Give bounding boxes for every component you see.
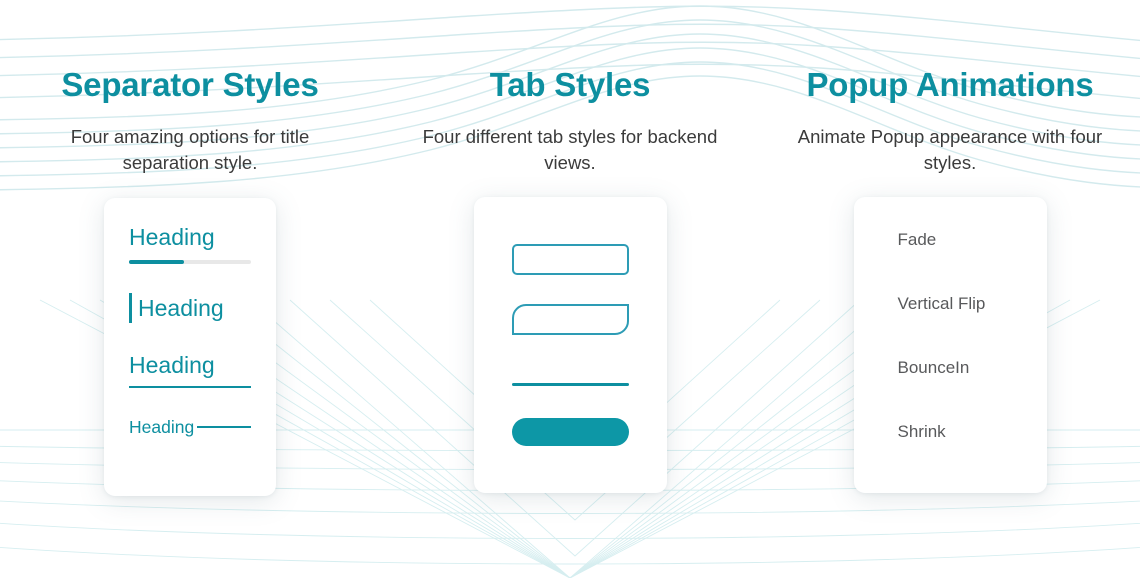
separator-style-left-vertical-bar[interactable]: Heading	[129, 293, 251, 323]
subtitle-separator-styles: Four amazing options for title separatio…	[25, 103, 355, 178]
separator-style-full-underline[interactable]: Heading	[129, 352, 251, 387]
list-item[interactable]: Shrink	[898, 423, 1047, 440]
separator-styles-card: Heading Heading Heading Heading	[104, 198, 276, 496]
subtitle-popup-animations: Animate Popup appearance with four style…	[785, 103, 1115, 178]
page-title-tab-styles: Tab Styles	[490, 0, 651, 103]
tab-style-rounded-rectangle[interactable]	[512, 244, 629, 275]
list-item[interactable]: Fade	[898, 231, 1047, 248]
page-title-separator-styles: Separator Styles	[61, 0, 318, 103]
separator-style-underline-progress[interactable]: Heading	[129, 224, 251, 264]
column-tab-styles: Tab Styles Four different tab styles for…	[380, 0, 760, 578]
separator-style-trailing-line[interactable]: Heading	[129, 417, 251, 438]
tab-styles-card	[474, 197, 667, 493]
list-item[interactable]: Vertical Flip	[898, 295, 1047, 312]
tab-style-angled-corners[interactable]	[512, 304, 629, 335]
separator-label: Heading	[138, 295, 224, 322]
column-popup-animations: Popup Animations Animate Popup appearanc…	[760, 0, 1140, 578]
separator-progress-track	[129, 260, 251, 264]
page-title-popup-animations: Popup Animations	[806, 0, 1093, 103]
subtitle-tab-styles: Four different tab styles for backend vi…	[405, 103, 735, 178]
popup-animations-card: Fade Vertical Flip BounceIn Shrink	[854, 197, 1047, 493]
list-item[interactable]: BounceIn	[898, 359, 1047, 376]
column-separator-styles: Separator Styles Four amazing options fo…	[0, 0, 380, 578]
separator-vertical-bar	[129, 293, 132, 323]
feature-columns: Separator Styles Four amazing options fo…	[0, 0, 1140, 578]
separator-underline	[129, 386, 251, 388]
tab-style-filled-pill[interactable]	[512, 418, 629, 446]
tab-style-underline[interactable]	[512, 383, 629, 386]
separator-label: Heading	[129, 417, 194, 438]
separator-trailing-rule	[197, 426, 251, 428]
separator-label: Heading	[129, 224, 251, 251]
separator-label: Heading	[129, 352, 251, 379]
